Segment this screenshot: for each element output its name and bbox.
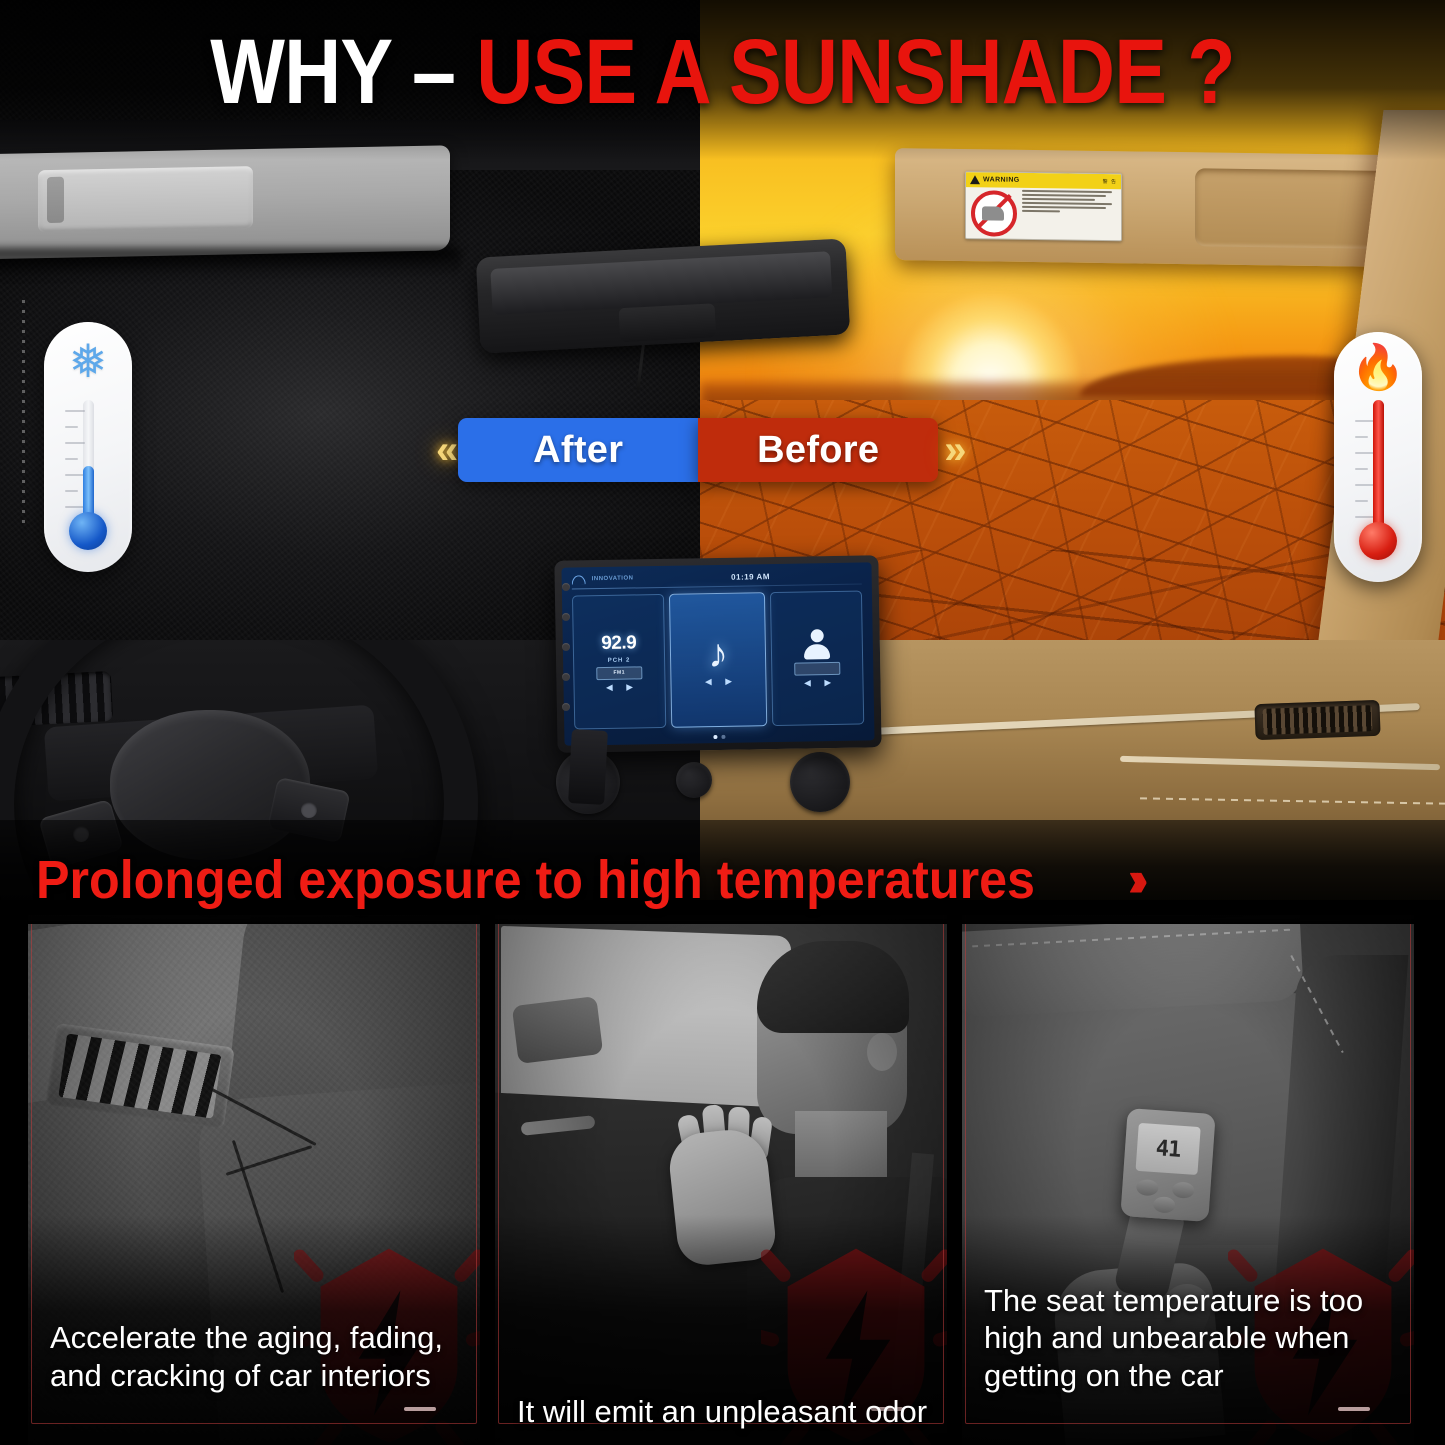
panel-aging-interiors: Accelerate the aging, fading, and cracki… — [28, 915, 480, 1445]
subhead-row: Prolonged exposure to high temperatures … — [0, 838, 1445, 922]
warning-fine-print — [1022, 188, 1121, 240]
menu-button[interactable] — [562, 673, 570, 681]
eject-button[interactable] — [562, 703, 570, 711]
vanity-mirror-left — [38, 166, 253, 232]
hot-thermometer: 🔥 — [1334, 332, 1422, 582]
warning-cjk-text: 警 告 — [1103, 178, 1117, 185]
radio-seek-controls[interactable]: ◀ ▶ — [606, 682, 632, 691]
power-button[interactable] — [562, 583, 570, 591]
panel-dash-mark — [1338, 1407, 1370, 1411]
profile-prev-icon[interactable]: ◀ — [804, 678, 810, 687]
profile-paging-controls[interactable]: ◀ ▶ — [804, 678, 830, 687]
mirror-stem — [619, 303, 717, 342]
infotainment-side-buttons[interactable] — [556, 572, 576, 722]
headline-red: USE A SUNSHADE ? — [476, 21, 1234, 123]
infotainment-cards: 92.9 PCH 2 FM1 ◀ ▶ ♪ ◀ ▶ — [572, 590, 864, 729]
flame-icon: 🔥 — [1351, 346, 1406, 390]
home-button[interactable] — [562, 613, 570, 621]
phone-profile-card[interactable]: ◀ ▶ — [770, 590, 864, 726]
radio-card[interactable]: 92.9 PCH 2 FM1 ◀ ▶ — [572, 594, 666, 730]
clock-display: 01:19 AM — [731, 572, 770, 582]
chevron-right-icon: » — [944, 430, 960, 470]
radio-next-icon[interactable]: ▶ — [626, 682, 632, 691]
airbag-warning-label: WARNING 警 告 — [965, 171, 1122, 241]
panel-dash-mark — [404, 1407, 436, 1411]
page-indicator — [713, 735, 725, 739]
panel-caption: Accelerate the aging, fading, and cracki… — [50, 1319, 462, 1395]
subhead-text: Prolonged exposure to high temperatures — [36, 853, 1035, 907]
panel-unpleasant-odor: It will emit an unpleasant odor — [495, 915, 947, 1445]
hero-comparison-section: WARNING 警 告 — [0, 0, 1445, 900]
warning-title: WARNING — [983, 176, 1020, 184]
visor-shadow — [0, 248, 460, 278]
rearview-mirror — [476, 238, 851, 353]
panel-caption: It will emit an unpleasant odor — [517, 1393, 929, 1431]
climate-button-center[interactable] — [676, 762, 712, 798]
radio-band-chip[interactable]: FM1 — [596, 666, 642, 680]
sunshade-stitching — [22, 300, 25, 530]
radio-prev-icon[interactable]: ◀ — [606, 682, 612, 691]
profile-next-icon[interactable]: ▶ — [825, 678, 831, 687]
headline-white: WHY — [210, 21, 391, 123]
media-transport-controls[interactable]: ◀ ▶ — [705, 677, 731, 686]
sun-visor-right: WARNING 警 告 — [895, 148, 1445, 268]
warning-triangle-icon — [970, 175, 980, 184]
infotainment-brand: INNOVATION — [592, 575, 634, 582]
thermometer-fill-hot — [1373, 400, 1384, 536]
infotainment-head-unit[interactable]: INNOVATION 01:19 AM 92.9 PCH 2 FM1 ◀ ▶ — [554, 555, 881, 753]
media-next-icon[interactable]: ▶ — [725, 677, 731, 686]
after-badge: After — [458, 418, 698, 482]
radio-preset: PCH 2 — [608, 657, 631, 663]
no-rear-facing-child-seat-icon — [971, 190, 1017, 237]
profile-name-chip[interactable] — [794, 662, 840, 676]
air-vent-right-icon — [1254, 700, 1380, 740]
warning-pictogram — [966, 187, 1022, 239]
cold-thermometer: ❅ — [44, 322, 132, 572]
media-card[interactable]: ♪ ◀ ▶ — [669, 592, 768, 728]
product-infographic: WARNING 警 告 — [0, 0, 1445, 1445]
head-unit-mount — [568, 729, 608, 805]
volume-button[interactable] — [562, 643, 570, 651]
warning-body — [966, 187, 1121, 240]
media-prev-icon[interactable]: ◀ — [705, 677, 711, 686]
snowflake-icon: ❅ — [69, 338, 108, 384]
before-after-badges: « After Before » — [436, 418, 961, 482]
sun-visor-left — [0, 145, 450, 259]
chevrons-right-icon: ››› — [1128, 852, 1138, 908]
infotainment-screen[interactable]: INNOVATION 01:19 AM 92.9 PCH 2 FM1 ◀ ▶ — [561, 562, 874, 745]
chevron-left-icon: « — [436, 430, 452, 470]
headline-dash: – — [412, 21, 455, 123]
thermometer-bulb-cold — [69, 512, 107, 550]
benefit-panels: Accelerate the aging, fading, and cracki… — [0, 915, 1445, 1445]
page-title: WHY – USE A SUNSHADE ? — [101, 26, 1344, 118]
thermometer-bulb-hot — [1359, 522, 1397, 560]
panel-hot-seat: 41 The seat temperature is too high and … — [962, 915, 1414, 1445]
music-note-icon: ♪ — [708, 634, 729, 674]
climate-knob-2[interactable] — [790, 752, 850, 812]
radio-frequency: 92.9 — [601, 632, 636, 655]
before-badge: Before — [698, 418, 938, 482]
panel-caption: The seat temperature is too high and unb… — [984, 1282, 1396, 1395]
person-icon — [804, 629, 831, 659]
